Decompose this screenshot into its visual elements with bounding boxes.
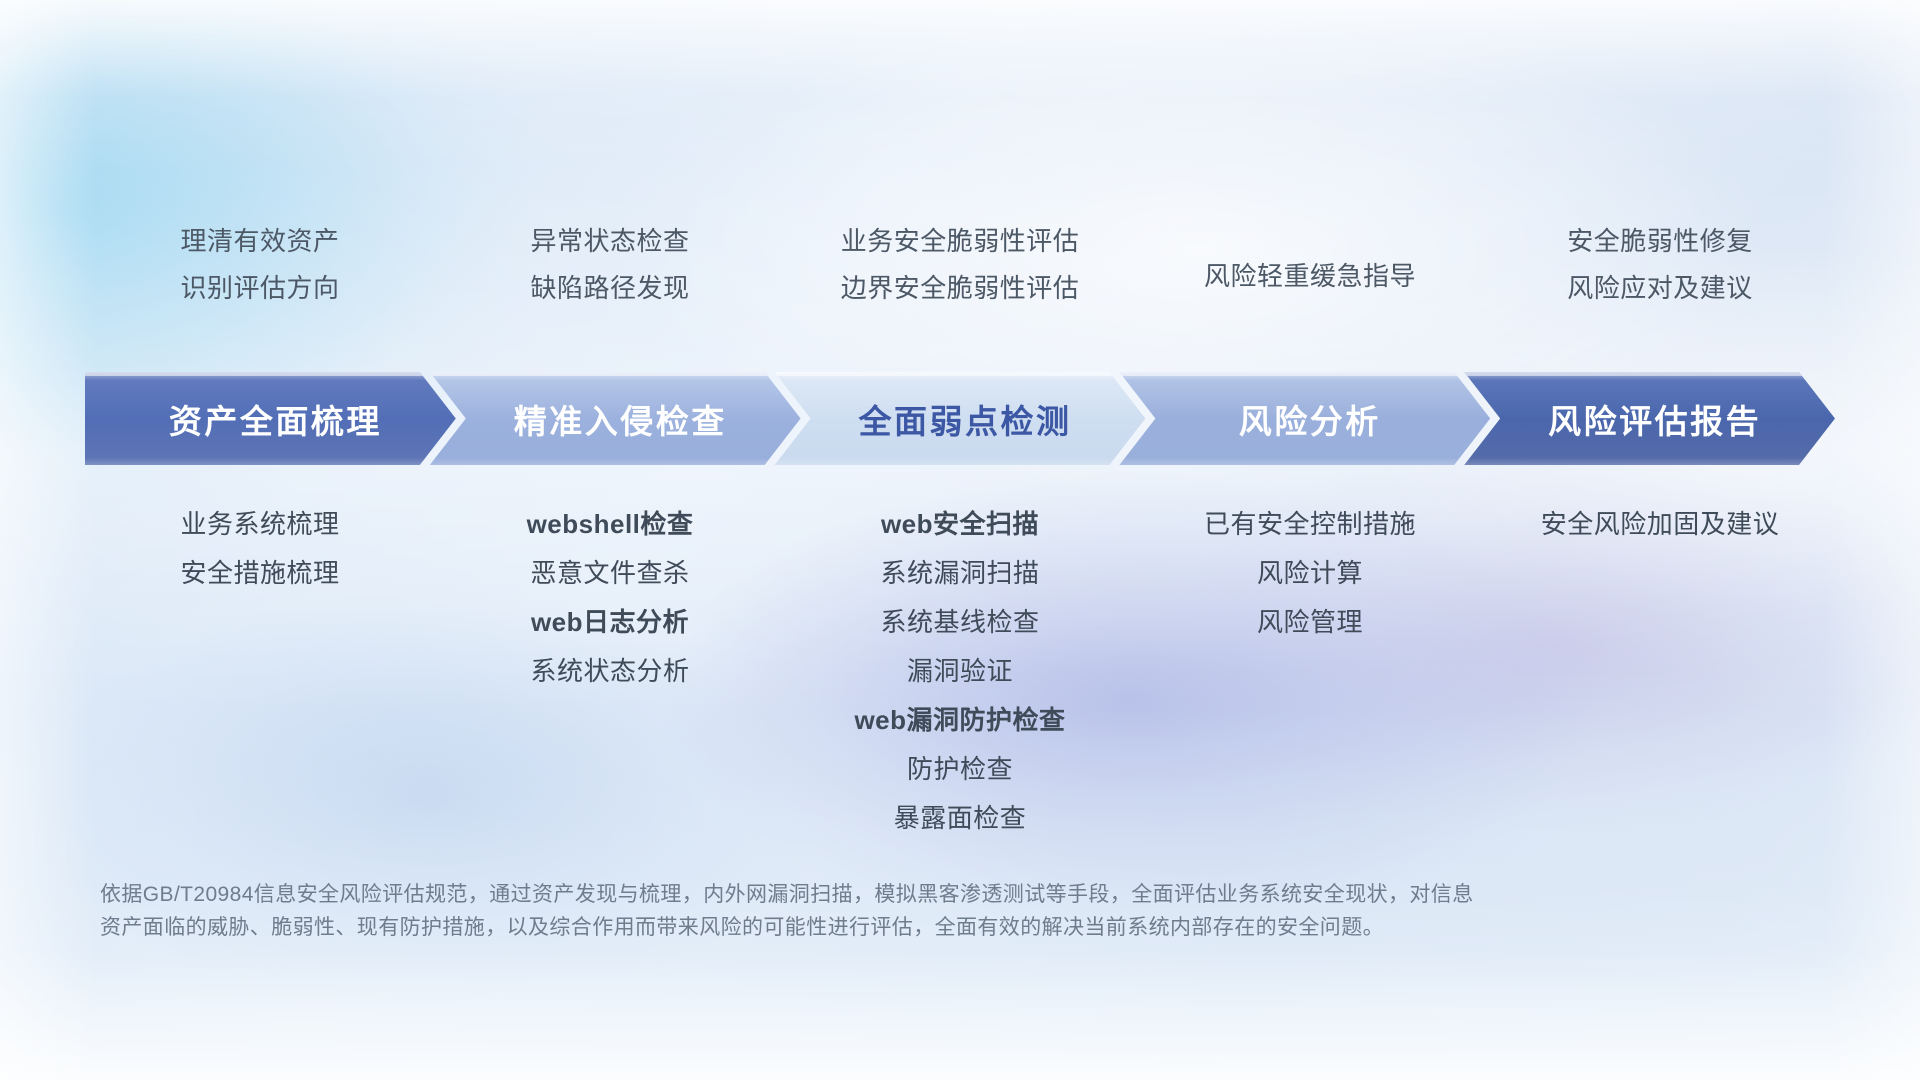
- activity-item: 业务系统梳理: [180, 500, 339, 549]
- activity-item: 安全措施梳理: [180, 549, 339, 598]
- outcome-item: 缺陷路径发现: [530, 265, 689, 312]
- chevron-top-gloss: [430, 372, 801, 376]
- stage-outcomes-col-4: 风险轻重缓急指导: [1135, 218, 1485, 312]
- stage-outcomes-col-5: 安全脆弱性修复风险应对及建议: [1485, 218, 1835, 312]
- activity-item: 系统基线检查: [880, 598, 1039, 647]
- process-stage-label: 风险评估报告: [1538, 395, 1761, 443]
- activity-item: 风险计算: [1257, 549, 1363, 598]
- activity-item: 安全风险加固及建议: [1541, 500, 1780, 549]
- activity-item-text: web安全扫描: [881, 509, 1039, 539]
- slide-canvas: 理清有效资产识别评估方向异常状态检查缺陷路径发现业务安全脆弱性评估边界安全脆弱性…: [0, 0, 1920, 1080]
- outcome-item: 理清有效资产: [180, 218, 339, 265]
- chevron-top-gloss: [1119, 372, 1490, 376]
- outcome-item: 风险轻重缓急指导: [1204, 253, 1416, 300]
- outcome-item: 风险应对及建议: [1567, 265, 1753, 312]
- process-stage-4[interactable]: 风险分析: [1119, 372, 1490, 465]
- stage-activities-col-5: 安全风险加固及建议: [1485, 500, 1835, 549]
- process-stage-3[interactable]: 全面弱点检测: [775, 372, 1146, 465]
- process-chevron-band: 资产全面梳理精准入侵检查全面弱点检测风险分析风险评估报告: [85, 372, 1835, 465]
- chevron-top-gloss: [85, 372, 456, 376]
- process-stage-5[interactable]: 风险评估报告: [1464, 372, 1835, 465]
- outcome-item: 业务安全脆弱性评估: [841, 218, 1080, 265]
- process-stage-label: 精准入侵检查: [504, 395, 727, 443]
- stage-outcomes-col-2: 异常状态检查缺陷路径发现: [435, 218, 785, 312]
- process-stage-2[interactable]: 精准入侵检查: [430, 372, 801, 465]
- activity-item: 漏洞验证: [907, 647, 1013, 696]
- stage-activities-col-1: 业务系统梳理安全措施梳理: [85, 500, 435, 598]
- activity-item-text: web日志分析: [531, 607, 689, 637]
- outcome-item: 边界安全脆弱性评估: [841, 265, 1080, 312]
- process-stage-label: 风险分析: [1229, 395, 1381, 443]
- chevron-top-gloss: [775, 372, 1146, 376]
- outcome-item: 异常状态检查: [530, 218, 689, 265]
- process-stage-label: 资产全面梳理: [159, 395, 382, 443]
- activity-item: 恶意文件查杀: [530, 549, 689, 598]
- process-stage-label: 全面弱点检测: [848, 395, 1071, 443]
- activity-item: 暴露面检查: [894, 794, 1027, 843]
- activity-item: web漏洞防护检查: [854, 696, 1065, 745]
- activity-item: 风险管理: [1257, 598, 1363, 647]
- chevron-top-gloss: [1464, 372, 1835, 376]
- stage-activities-col-4: 已有安全控制措施风险计算风险管理: [1135, 500, 1485, 647]
- footer-description: 依据GB/T20984信息安全风险评估规范，通过资产发现与梳理，内外网漏洞扫描，…: [100, 878, 1610, 944]
- outcome-item: 安全脆弱性修复: [1567, 218, 1753, 265]
- stage-activities-col-2: webshell检查恶意文件查杀web日志分析系统状态分析: [435, 500, 785, 696]
- activity-item: 已有安全控制措施: [1204, 500, 1416, 549]
- stage-outcomes-col-1: 理清有效资产识别评估方向: [85, 218, 435, 312]
- stage-activities-col-3: web安全扫描系统漏洞扫描系统基线检查漏洞验证web漏洞防护检查防护检查暴露面检…: [785, 500, 1135, 843]
- activity-item: 防护检查: [907, 745, 1013, 794]
- activity-item: 系统漏洞扫描: [880, 549, 1039, 598]
- activity-item: 系统状态分析: [530, 647, 689, 696]
- stage-outcomes-row: 理清有效资产识别评估方向异常状态检查缺陷路径发现业务安全脆弱性评估边界安全脆弱性…: [85, 218, 1835, 312]
- footer-line-1: 依据GB/T20984信息安全风险评估规范，通过资产发现与梳理，内外网漏洞扫描，…: [100, 878, 1610, 911]
- activity-item: web日志分析: [531, 598, 689, 647]
- process-stage-1[interactable]: 资产全面梳理: [85, 372, 456, 465]
- activity-item-text: web漏洞防护检查: [854, 705, 1065, 735]
- footer-line-2: 资产面临的威胁、脆弱性、现有防护措施，以及综合作用而带来风险的可能性进行评估，全…: [100, 911, 1610, 944]
- stage-outcomes-col-3: 业务安全脆弱性评估边界安全脆弱性评估: [785, 218, 1135, 312]
- stage-activities-row: 业务系统梳理安全措施梳理webshell检查恶意文件查杀web日志分析系统状态分…: [85, 500, 1835, 843]
- activity-item-text: webshell检查: [527, 509, 694, 539]
- activity-item: web安全扫描: [881, 500, 1039, 549]
- activity-item: webshell检查: [527, 500, 694, 549]
- outcome-item: 识别评估方向: [180, 265, 339, 312]
